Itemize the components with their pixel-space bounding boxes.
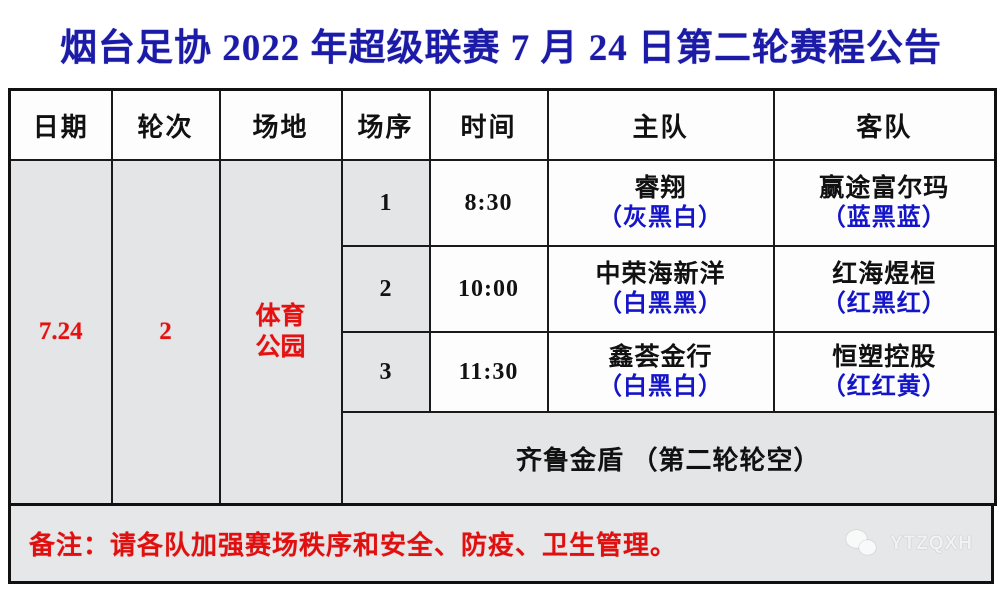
cell-sequence: 1	[342, 160, 430, 246]
away-team-name: 红海煜桓	[775, 260, 995, 290]
cell-home-team: 中荣海新洋 （白黑黑）	[548, 246, 774, 332]
cell-date: 7.24	[10, 160, 112, 505]
cell-away-team: 恒塑控股 （红红黄）	[774, 332, 996, 412]
header-time: 时间	[430, 90, 548, 161]
cell-time: 8:30	[430, 160, 548, 246]
header-round: 轮次	[112, 90, 220, 161]
header-date: 日期	[10, 90, 112, 161]
home-team-name: 睿翔	[549, 174, 773, 204]
page-title: 烟台足协 2022 年超级联赛 7 月 24 日第二轮赛程公告	[60, 17, 942, 71]
page-title-bar: 烟台足协 2022 年超级联赛 7 月 24 日第二轮赛程公告	[0, 0, 1002, 88]
home-team-name: 中荣海新洋	[549, 260, 773, 290]
venue-line-2: 公园	[221, 332, 341, 363]
cell-time: 10:00	[430, 246, 548, 332]
home-team-kit: （白黑白）	[549, 373, 773, 401]
away-team-kit: （红黑红）	[775, 290, 995, 318]
watermark-text: YTZQXH	[890, 533, 973, 555]
cell-home-team: 睿翔 （灰黑白）	[548, 160, 774, 246]
away-team-kit: （蓝黑蓝）	[775, 204, 995, 232]
home-team-kit: （白黑黑）	[549, 290, 773, 318]
wechat-bubble-small	[859, 540, 876, 555]
header-away-team: 客队	[774, 90, 996, 161]
cell-home-team: 鑫荟金行 （白黑白）	[548, 332, 774, 412]
cell-sequence: 3	[342, 332, 430, 412]
footer-note-bar: 备注：请各队加强赛场秩序和安全、防疫、卫生管理。 YTZQXH	[8, 506, 994, 584]
schedule-table-wrapper: 日期 轮次 场地 场序 时间 主队 客队 7.24 2 体育 公园 1 8:30…	[8, 88, 994, 506]
footer-note-text: 备注：请各队加强赛场秩序和安全、防疫、卫生管理。	[29, 525, 677, 562]
cell-away-team: 赢途富尔玛 （蓝黑蓝）	[774, 160, 996, 246]
schedule-table: 日期 轮次 场地 场序 时间 主队 客队 7.24 2 体育 公园 1 8:30…	[8, 88, 997, 506]
home-team-name: 鑫荟金行	[549, 343, 773, 373]
table-row: 7.24 2 体育 公园 1 8:30 睿翔 （灰黑白） 赢途富尔玛 （蓝黑蓝）	[10, 160, 996, 246]
cell-round: 2	[112, 160, 220, 505]
header-sequence: 场序	[342, 90, 430, 161]
cell-bye-note: 齐鲁金盾 （第二轮轮空）	[342, 412, 996, 505]
header-home-team: 主队	[548, 90, 774, 161]
watermark: YTZQXH	[846, 530, 973, 558]
away-team-name: 恒塑控股	[775, 343, 995, 373]
wechat-icon	[846, 530, 880, 558]
venue-line-1: 体育	[221, 301, 341, 332]
header-venue: 场地	[220, 90, 342, 161]
table-header-row: 日期 轮次 场地 场序 时间 主队 客队	[10, 90, 996, 161]
cell-sequence: 2	[342, 246, 430, 332]
cell-venue: 体育 公园	[220, 160, 342, 505]
away-team-kit: （红红黄）	[775, 373, 995, 401]
cell-time: 11:30	[430, 332, 548, 412]
home-team-kit: （灰黑白）	[549, 204, 773, 232]
cell-away-team: 红海煜桓 （红黑红）	[774, 246, 996, 332]
away-team-name: 赢途富尔玛	[775, 174, 995, 204]
